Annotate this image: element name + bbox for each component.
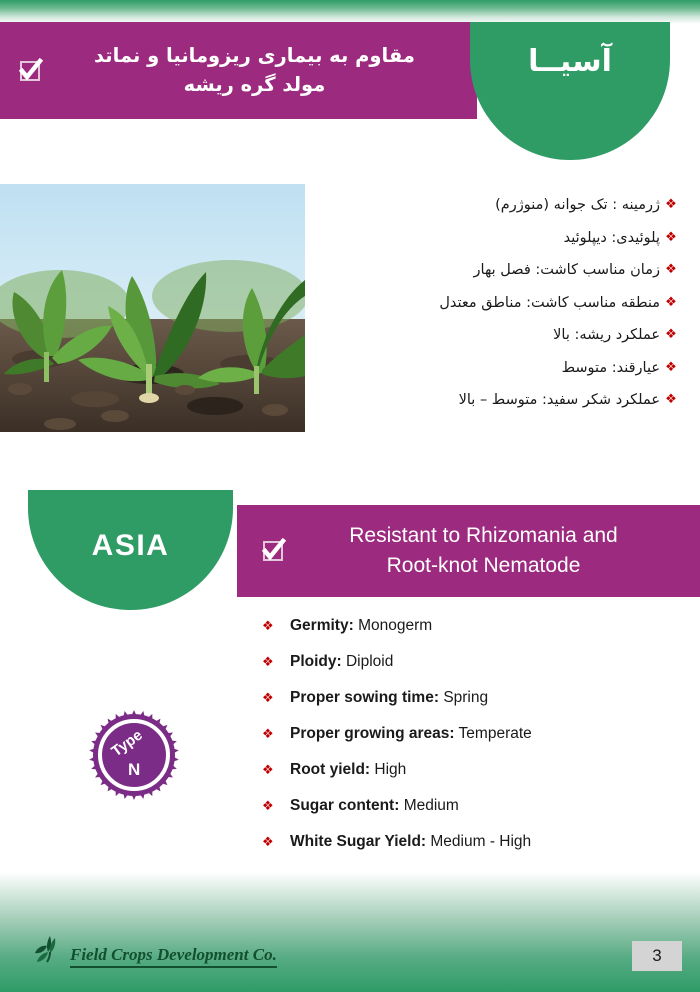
- sugar-beet-field-photo: [0, 184, 305, 432]
- english-spec-text: Sugar content: Medium: [290, 796, 459, 815]
- persian-variety-name: آسیــا: [528, 44, 612, 79]
- english-spec-label: Ploidy:: [290, 653, 342, 670]
- persian-spec-text: پلوئیدی: دیپلوئید: [262, 229, 660, 247]
- english-spec-value: Medium - High: [430, 833, 531, 850]
- english-spec-value: High: [374, 761, 406, 778]
- type-n-seal-badge: Type N: [86, 707, 182, 803]
- persian-spec-text: عملکرد شکر سفید: متوسط – بالا: [262, 391, 660, 409]
- english-header-line1: Resistant to Rhizomania and: [349, 524, 617, 547]
- list-item: ❖ عملکرد ریشه: بالا: [262, 326, 682, 344]
- english-spec-text: Ploidy: Diploid: [290, 652, 393, 671]
- english-spec-text: White Sugar Yield: Medium - High: [290, 832, 531, 851]
- list-item: ❖ White Sugar Yield: Medium - High: [262, 832, 682, 851]
- english-header-title: Resistant to Rhizomania and Root-knot Ne…: [289, 521, 700, 581]
- english-variety-badge: ASIA: [28, 490, 233, 610]
- company-logo: Field Crops Development Co.: [34, 933, 277, 968]
- list-item: ❖ Sugar content: Medium: [262, 796, 682, 815]
- persian-spec-text: عملکرد ریشه: بالا: [262, 326, 660, 344]
- diamond-bullet-icon: ❖: [262, 691, 290, 706]
- english-spec-value: Monogerm: [358, 617, 432, 634]
- checkbox-checked-icon: [261, 538, 287, 564]
- diamond-bullet-icon: ❖: [660, 326, 682, 343]
- english-spec-label: Proper sowing time:: [290, 689, 439, 706]
- page-number: 3: [632, 941, 682, 971]
- list-item: ❖ منطقه مناسب کاشت: مناطق معتدل: [262, 294, 682, 312]
- diamond-bullet-icon: ❖: [660, 229, 682, 246]
- leaf-icon: [34, 933, 68, 968]
- seal-line2: N: [128, 760, 140, 779]
- diamond-bullet-icon: ❖: [660, 294, 682, 311]
- diamond-bullet-icon: ❖: [262, 655, 290, 670]
- english-specs-list: ❖ Germity: Monogerm ❖ Ploidy: Diploid ❖ …: [262, 616, 682, 868]
- list-item: ❖ Ploidy: Diploid: [262, 652, 682, 671]
- diamond-bullet-icon: ❖: [660, 359, 682, 376]
- persian-header-band: مقاوم به بیماری ریزومانیا و نماتد مولد گ…: [0, 22, 477, 119]
- english-spec-value: Diploid: [346, 653, 393, 670]
- list-item: ❖ عیارقند: متوسط: [262, 359, 682, 377]
- list-item: ❖ ژرمینه : تک جوانه (منوژرم): [262, 196, 682, 214]
- english-spec-label: Germity:: [290, 617, 354, 634]
- english-spec-value: Medium: [404, 797, 459, 814]
- english-spec-text: Root yield: High: [290, 760, 406, 779]
- persian-spec-text: زمان مناسب کاشت: فصل بهار: [262, 261, 660, 279]
- list-item: ❖ Proper growing areas: Temperate: [262, 724, 682, 743]
- diamond-bullet-icon: ❖: [660, 261, 682, 278]
- list-item: ❖ Root yield: High: [262, 760, 682, 779]
- list-item: ❖ Germity: Monogerm: [262, 616, 682, 635]
- footer-band: Field Crops Development Co. 3: [0, 872, 700, 992]
- list-item: ❖ Proper sowing time: Spring: [262, 688, 682, 707]
- list-item: ❖ زمان مناسب کاشت: فصل بهار: [262, 261, 682, 279]
- persian-header-line2: مولد گره ریشه: [184, 73, 326, 96]
- diamond-bullet-icon: ❖: [660, 196, 682, 213]
- company-name: Field Crops Development Co.: [70, 946, 277, 968]
- persian-header-title: مقاوم به بیماری ریزومانیا و نماتد مولد گ…: [46, 42, 463, 99]
- english-spec-label: Proper growing areas:: [290, 725, 455, 742]
- top-gradient-strip: [0, 0, 700, 24]
- checkbox-checked-icon: [18, 58, 44, 84]
- list-item: ❖ عملکرد شکر سفید: متوسط – بالا: [262, 391, 682, 409]
- diamond-bullet-icon: ❖: [262, 763, 290, 778]
- persian-spec-text: عیارقند: متوسط: [262, 359, 660, 377]
- english-header-line2: Root-knot Nematode: [387, 554, 581, 577]
- persian-header-inner: مقاوم به بیماری ریزومانیا و نماتد مولد گ…: [0, 22, 477, 119]
- english-spec-label: Sugar content:: [290, 797, 399, 814]
- starburst-seal-icon: Type N: [86, 707, 182, 803]
- english-spec-text: Germity: Monogerm: [290, 616, 432, 635]
- english-spec-label: White Sugar Yield:: [290, 833, 426, 850]
- persian-header-line1: مقاوم به بیماری ریزومانیا و نماتد: [94, 44, 415, 67]
- english-spec-value: Temperate: [459, 725, 532, 742]
- diamond-bullet-icon: ❖: [262, 727, 290, 742]
- english-variety-name: ASIA: [92, 529, 170, 563]
- diamond-bullet-icon: ❖: [660, 391, 682, 408]
- list-item: ❖ پلوئیدی: دیپلوئید: [262, 229, 682, 247]
- english-spec-text: Proper sowing time: Spring: [290, 688, 488, 707]
- english-spec-value: Spring: [443, 689, 488, 706]
- persian-spec-text: منطقه مناسب کاشت: مناطق معتدل: [262, 294, 660, 312]
- diamond-bullet-icon: ❖: [262, 619, 290, 634]
- diamond-bullet-icon: ❖: [262, 799, 290, 814]
- persian-variety-badge: آسیــا: [470, 22, 670, 160]
- english-spec-label: Root yield:: [290, 761, 370, 778]
- persian-spec-text: ژرمینه : تک جوانه (منوژرم): [262, 196, 660, 214]
- persian-specs-list: ❖ ژرمینه : تک جوانه (منوژرم) ❖ پلوئیدی: …: [262, 196, 682, 424]
- diamond-bullet-icon: ❖: [262, 835, 290, 850]
- english-header-band: Resistant to Rhizomania and Root-knot Ne…: [237, 505, 700, 597]
- english-spec-text: Proper growing areas: Temperate: [290, 724, 532, 743]
